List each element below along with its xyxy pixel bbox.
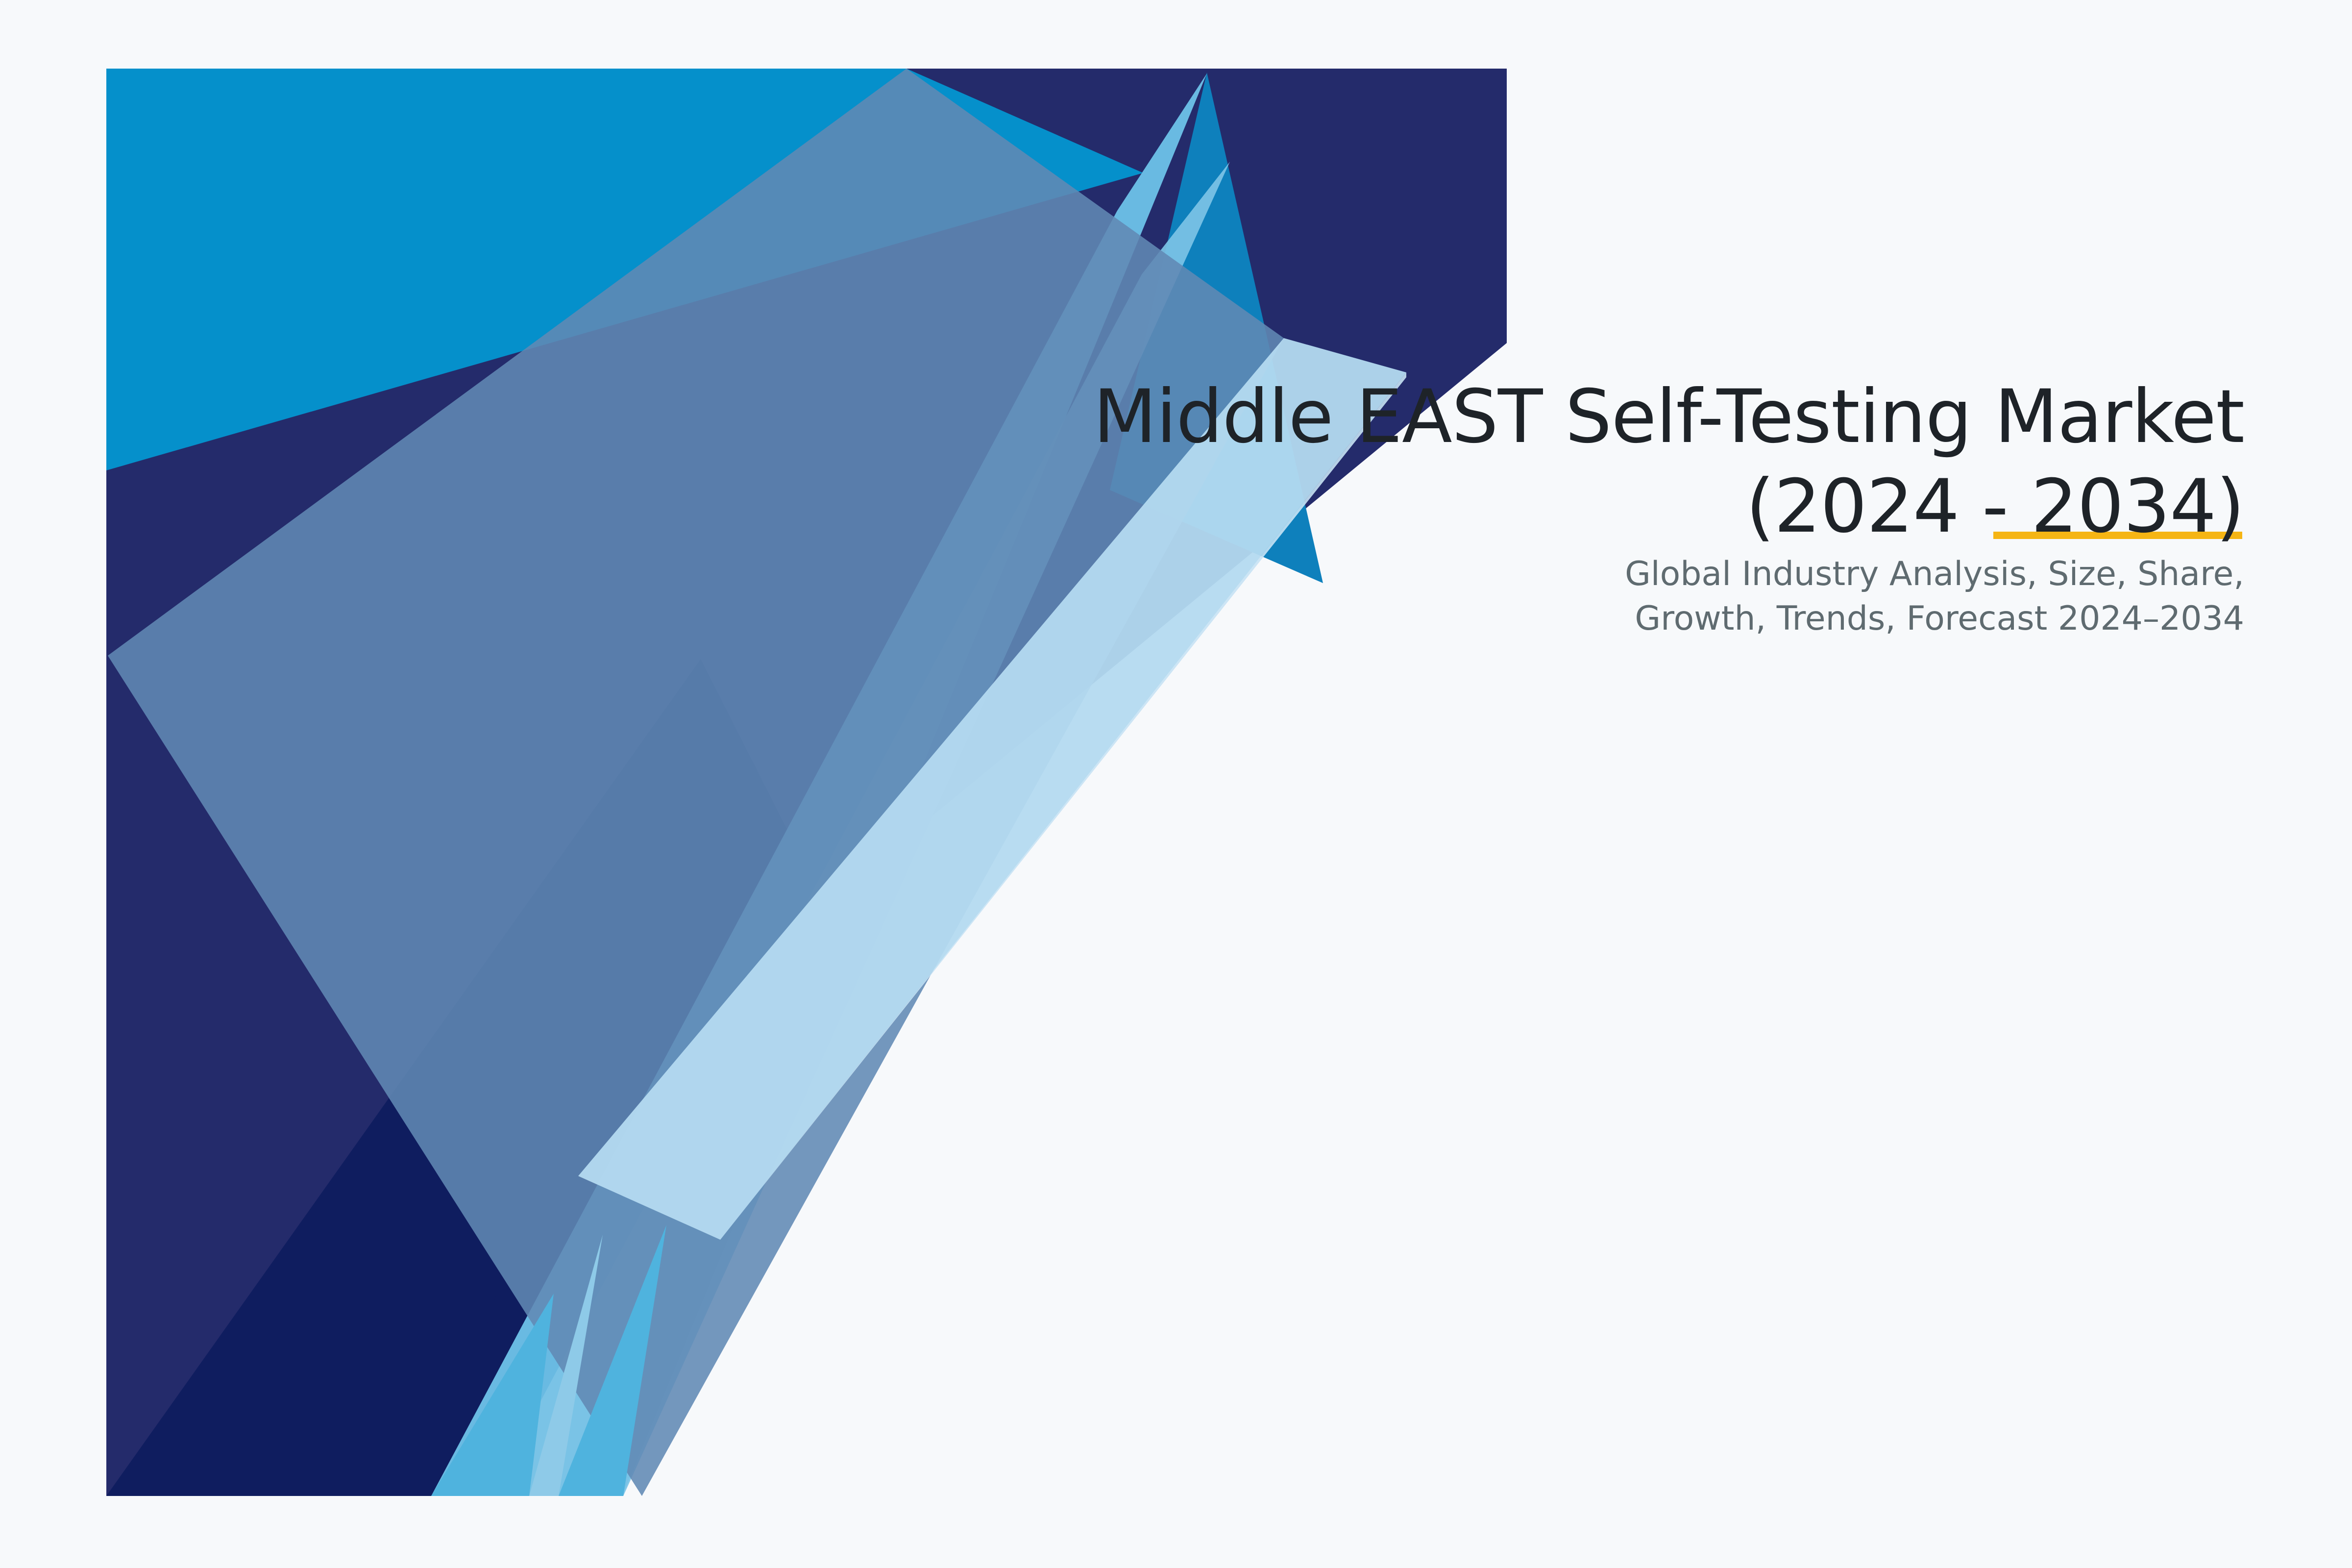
page-title-line-2: (2024 - 2034) [1746, 462, 2244, 552]
cover-page: Middle EAST Self-Testing Market (2024 - … [0, 0, 2352, 1568]
cover-artwork [0, 0, 2352, 1568]
page-title-line-1: Middle EAST Self-Testing Market [921, 372, 2244, 462]
page-title-line-2-wrapper: (2024 - 2034) [1746, 462, 2244, 552]
page-subtitle: Global Industry Analysis, Size, Share, G… [921, 552, 2244, 641]
page-subtitle-line-1: Global Industry Analysis, Size, Share, [921, 552, 2244, 596]
page-subtitle-line-2: Growth, Trends, Forecast 2024–2034 [921, 596, 2244, 641]
cover-text-block: Middle EAST Self-Testing Market (2024 - … [921, 372, 2244, 641]
